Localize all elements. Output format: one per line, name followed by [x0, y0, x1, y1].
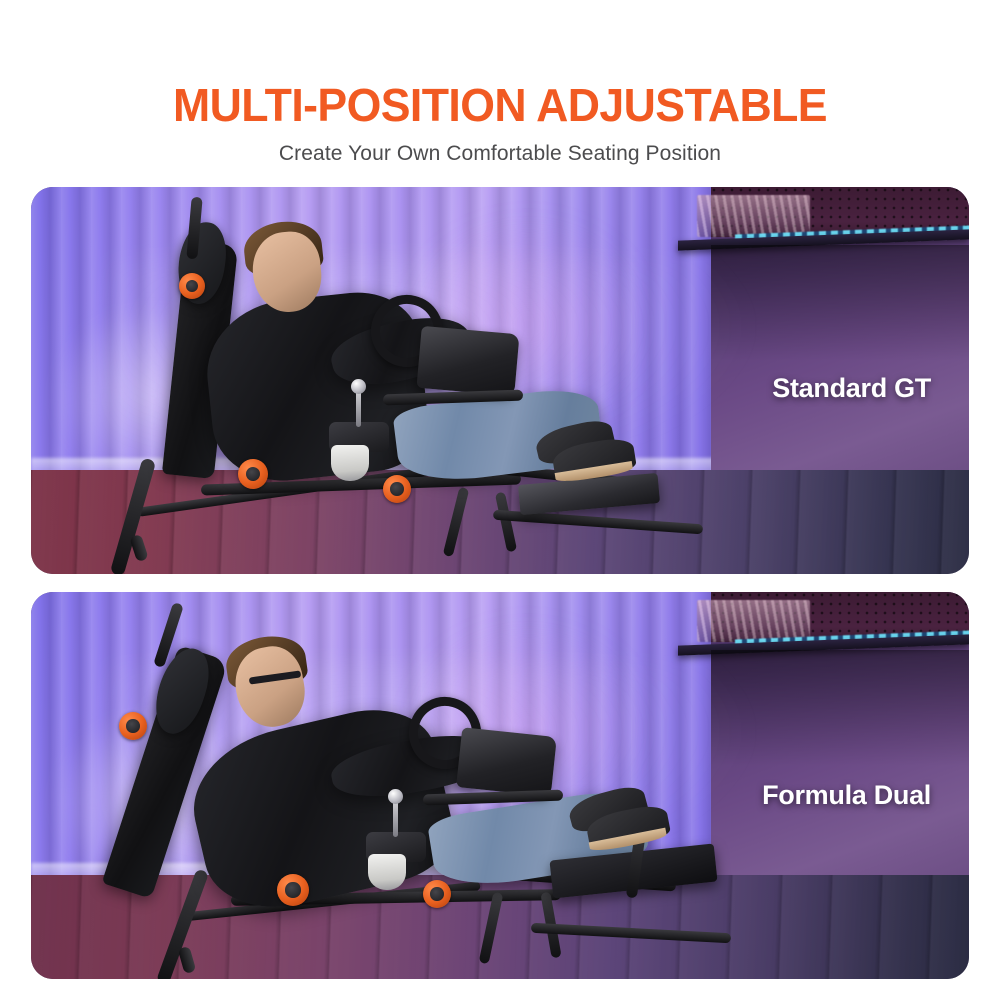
adjustment-knob-seat: [238, 459, 268, 489]
adjustment-knob-headrest: [119, 712, 147, 740]
page-subtitle: Create Your Own Comfortable Seating Posi…: [0, 142, 1000, 166]
frame-foot-left: [129, 534, 148, 562]
page-title: MULTI-POSITION ADJUSTABLE: [15, 82, 985, 128]
adjustment-knob-seat: [277, 874, 309, 906]
frame-foot-left: [178, 946, 197, 974]
shifter-knob: [388, 789, 403, 804]
adjustment-knob-headrest: [179, 273, 205, 299]
panel-list: Standard GT: [0, 187, 1000, 979]
shifter-knob: [351, 379, 366, 394]
frame-rail-curve-right: [531, 923, 731, 943]
cup-holder: [331, 445, 369, 481]
adjustment-knob-front: [383, 475, 411, 503]
frame-rail-curve-left: [110, 457, 157, 574]
frame-strut-rear: [443, 487, 470, 557]
adjustment-knob-front: [423, 880, 451, 908]
product-photo-standard-gt: Standard GT: [31, 187, 969, 574]
frame-strut-rear: [479, 892, 504, 965]
wheel-base-unit: [416, 326, 519, 396]
product-photo-formula-dual: Formula Dual: [31, 592, 969, 979]
frame-strut-front: [495, 492, 517, 553]
panel-label-formula-dual: Formula Dual: [762, 780, 931, 811]
page-header: MULTI-POSITION ADJUSTABLE Create Your Ow…: [0, 0, 1000, 166]
panel-label-standard-gt: Standard GT: [772, 373, 931, 404]
wheel-base-unit: [456, 727, 557, 797]
cup-holder: [368, 854, 406, 890]
pedal-plate: [518, 473, 660, 515]
